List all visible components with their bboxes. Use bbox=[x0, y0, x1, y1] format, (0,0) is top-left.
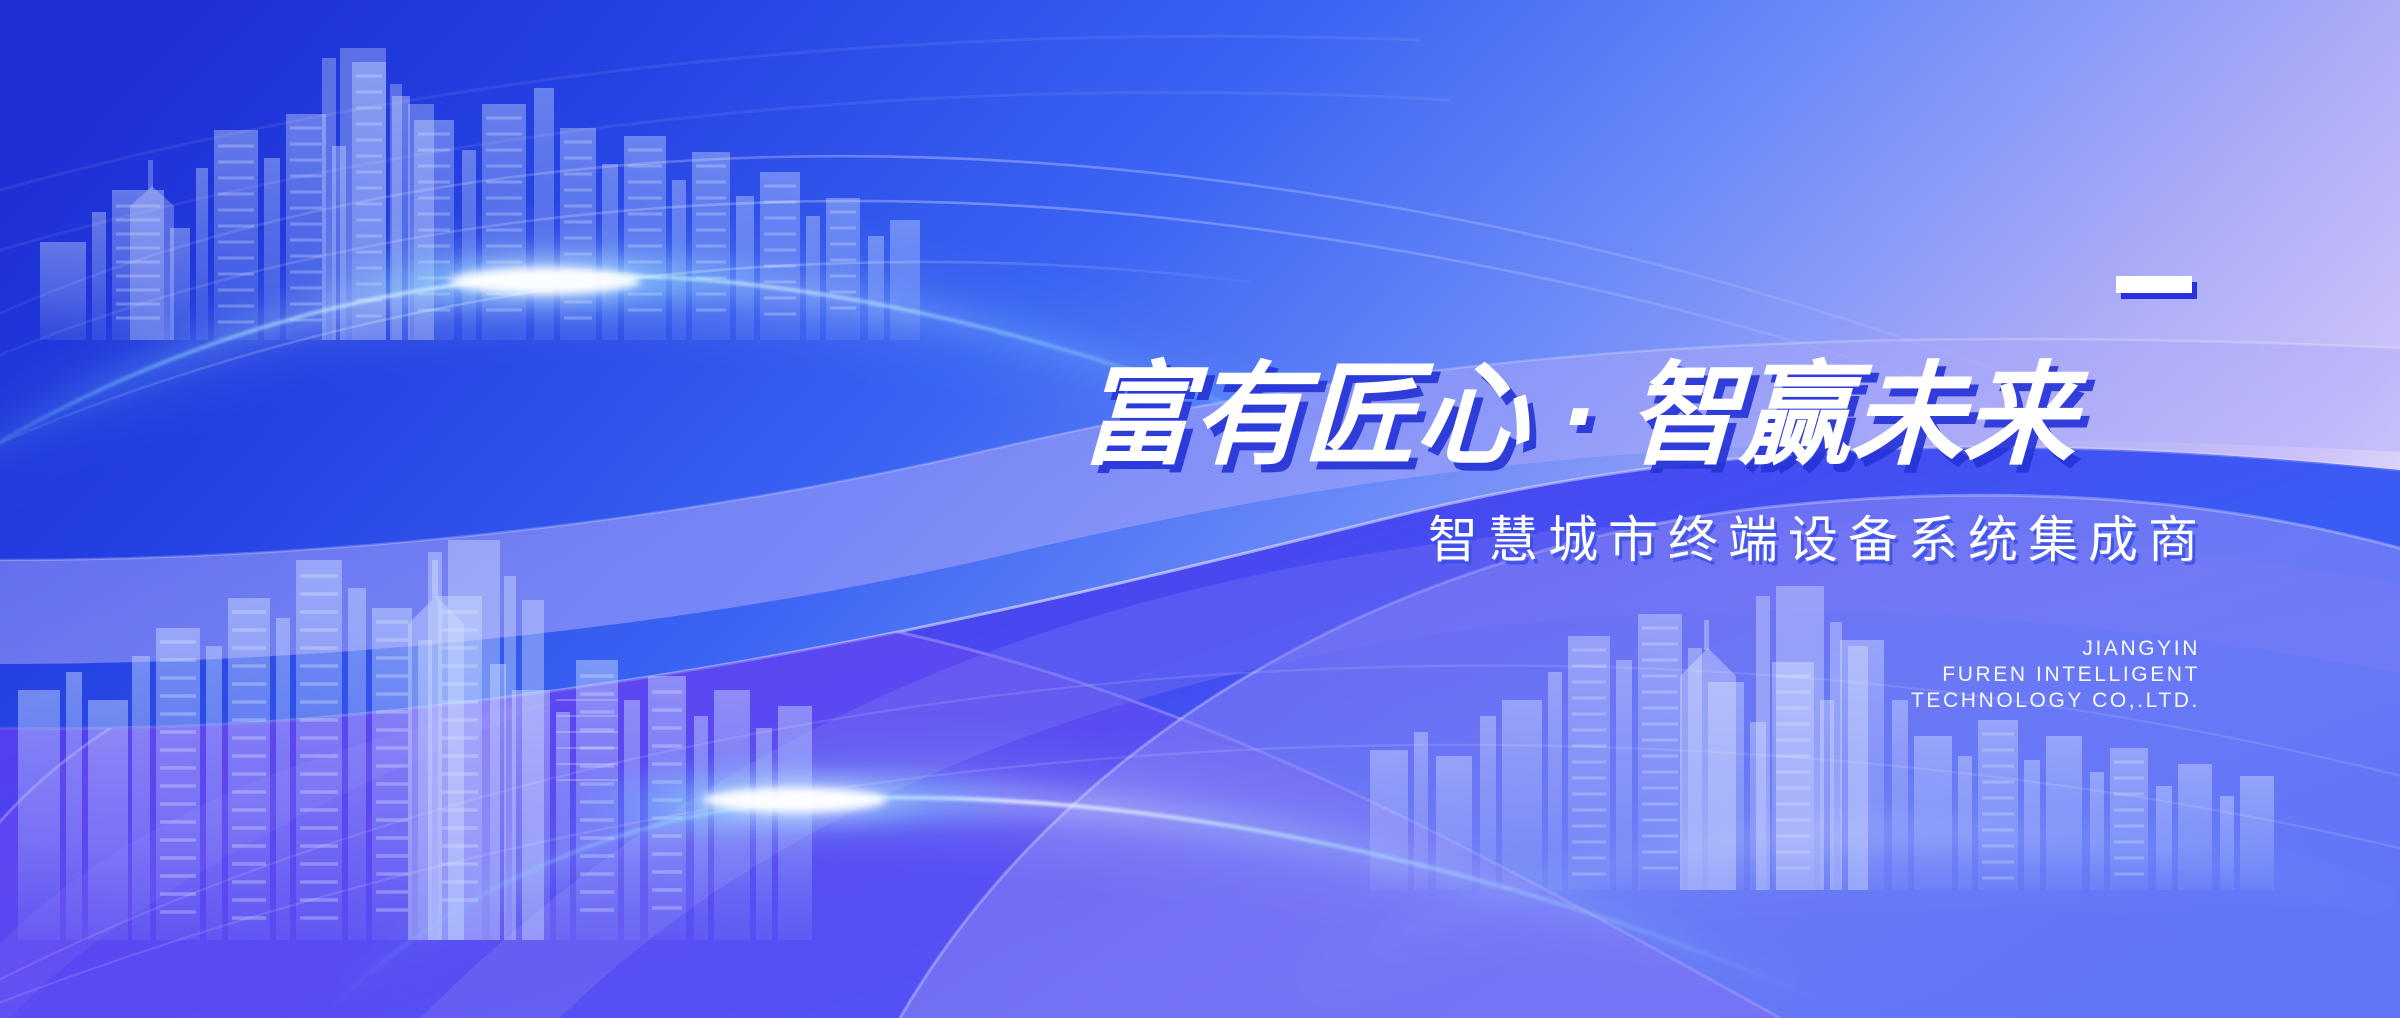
headline-title: 富有匠心 · 智赢未来 bbox=[1078, 352, 2212, 480]
company-name-line1: JIANGYIN bbox=[1700, 636, 2200, 662]
dash-mark-decor bbox=[2116, 276, 2192, 293]
company-name-en: JIANGYIN FUREN INTELLIGENT TECHNOLOGY CO… bbox=[1700, 636, 2200, 714]
company-name-line3: TECHNOLOGY CO,.LTD. bbox=[1700, 688, 2200, 714]
subtitle-tagline: 智慧城市终端设备系统集成商 bbox=[1428, 508, 2208, 572]
banner-root: 富有匠心 · 智赢未来 智慧城市终端设备系统集成商 JIANGYIN FUREN… bbox=[0, 0, 2400, 1018]
company-name-line2: FUREN INTELLIGENT bbox=[1700, 662, 2200, 688]
